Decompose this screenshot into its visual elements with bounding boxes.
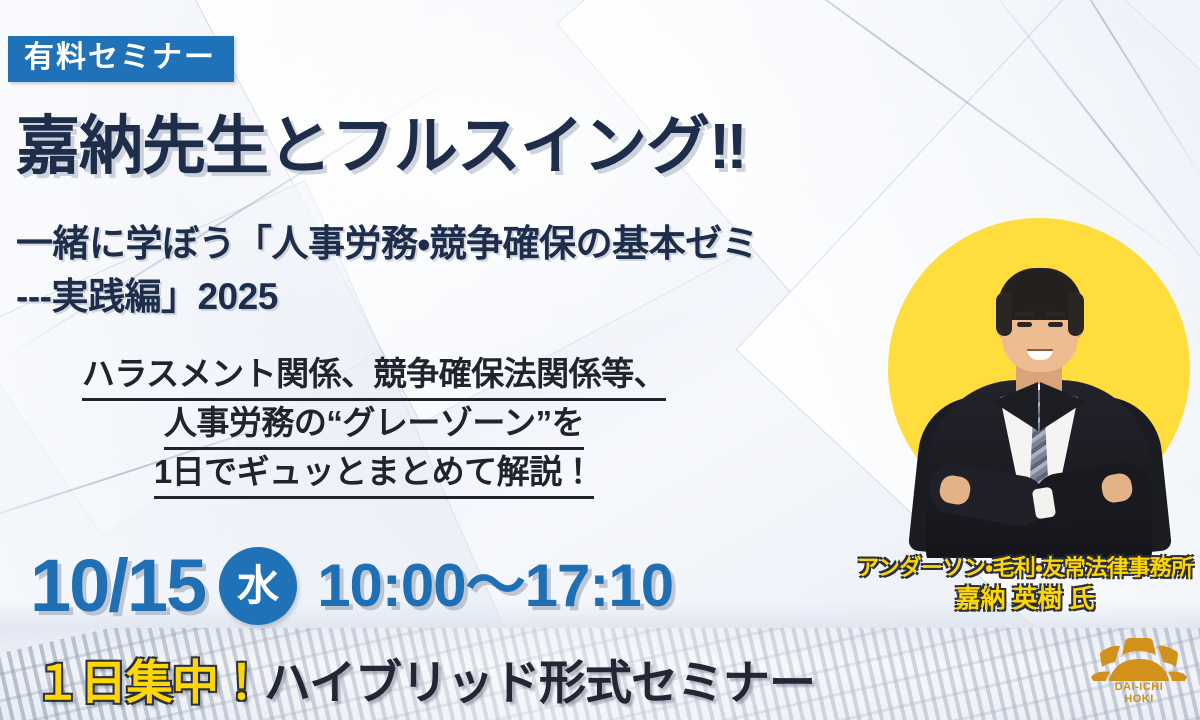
speaker-photo	[888, 218, 1190, 558]
eye-left	[1017, 322, 1032, 327]
bottom-banner-highlight: １日集中！	[34, 656, 264, 709]
page-title: 嘉納先生とフルスイング‼	[16, 114, 747, 178]
subtitle: 一緒に学ぼう「人事労務・競争確保の基本ゼミ ---実践編」2025	[16, 218, 916, 323]
eye-right	[1048, 322, 1063, 327]
description-line-2: 人事労務の“グレーゾーン”を	[164, 401, 584, 450]
speaker-office: アンダーソン・毛利・友常法律事務所	[852, 556, 1198, 581]
paid-seminar-badge: 有料セミナー	[8, 36, 234, 82]
hair-side-right	[1068, 292, 1084, 336]
bottom-banner-rest: ハイブリッド形式セミナー	[264, 656, 815, 709]
logo-line-1: DAI-ICHI	[1086, 682, 1192, 694]
speaker-name: 嘉納 英樹 氏	[852, 585, 1198, 613]
event-time: 10:00〜17:10	[317, 556, 673, 616]
logo-line-2: HOKI	[1086, 694, 1192, 706]
bottom-banner-text: １日集中！ハイブリッド形式セミナー	[34, 659, 815, 706]
description-block: ハラスメント関係、競争確保法関係等、 人事労務の“グレーゾーン”を 1日でギュッ…	[24, 352, 724, 499]
description-line-3: 1日でギュッとまとめて解説！	[154, 450, 594, 499]
subtitle-line-2: ---実践編」2025	[16, 271, 916, 324]
description-line-1: ハラスメント関係、競争確保法関係等、	[82, 352, 666, 401]
daiichi-hoki-logo: DAI-ICHI HOKI	[1086, 636, 1192, 716]
hair-side-left	[996, 292, 1012, 336]
speaker-caption: アンダーソン・毛利・友常法律事務所 嘉納 英樹 氏	[852, 556, 1198, 613]
speaker-portrait	[888, 218, 1190, 558]
event-date: 10/15	[30, 549, 205, 623]
schedule-row: 10/15 水 10:00〜17:10	[30, 540, 673, 632]
day-of-week-badge: 水	[219, 547, 297, 625]
seminar-banner: 有料セミナー 嘉納先生とフルスイング‼ 一緒に学ぼう「人事労務・競争確保の基本ゼ…	[0, 0, 1200, 720]
logo-wordmark: DAI-ICHI HOKI	[1086, 682, 1192, 705]
subtitle-line-1: 一緒に学ぼう「人事労務・競争確保の基本ゼミ	[16, 218, 916, 271]
